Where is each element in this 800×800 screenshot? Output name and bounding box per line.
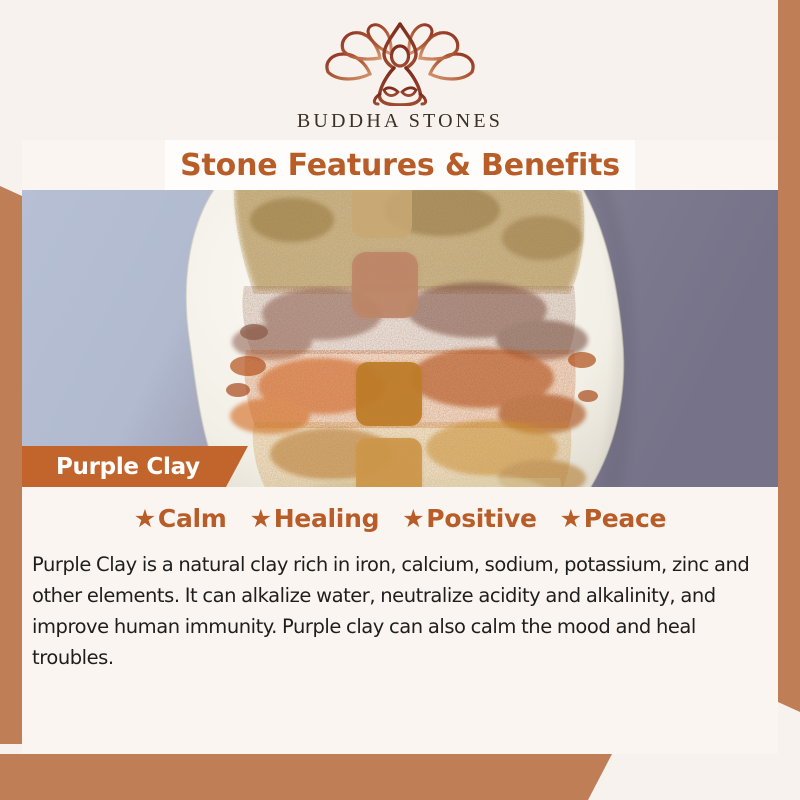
star-icon: ★: [134, 506, 156, 531]
description-text: Purple Clay is a natural clay rich in ir…: [32, 549, 768, 673]
brand-header: BUDDHA STONES: [22, 0, 778, 140]
star-icon: ★: [402, 506, 424, 531]
product-label: Purple Clay: [56, 454, 200, 480]
benefit-item: ★ Positive: [402, 504, 536, 533]
benefit-label: Peace: [584, 504, 666, 533]
product-photo: [22, 190, 778, 487]
benefit-label: Calm: [158, 504, 227, 533]
brand-name: BUDDHA STONES: [22, 110, 778, 133]
frame-bottom-band: [0, 754, 612, 800]
star-icon: ★: [250, 506, 272, 531]
page-title: Stone Features & Benefits: [180, 148, 620, 183]
benefit-item: ★ Peace: [560, 504, 667, 533]
content-card: BUDDHA STONES Stone Features & Benefits: [22, 0, 778, 754]
promo-infographic: BUDDHA STONES Stone Features & Benefits: [0, 0, 800, 800]
product-label-ribbon: Purple Clay: [22, 446, 248, 487]
star-icon: ★: [560, 506, 582, 531]
benefit-label: Positive: [426, 504, 536, 533]
benefit-label: Healing: [274, 504, 379, 533]
frame-right-band: [778, 0, 800, 712]
benefit-item: ★ Healing: [250, 504, 380, 533]
lotus-meditation-icon: [310, 20, 490, 106]
benefit-item: ★ Calm: [134, 504, 227, 533]
title-plaque: Stone Features & Benefits: [165, 140, 635, 190]
frame-left-band: [0, 186, 22, 744]
benefits-row: ★ Calm ★ Healing ★ Positive ★ Peace: [22, 495, 778, 541]
